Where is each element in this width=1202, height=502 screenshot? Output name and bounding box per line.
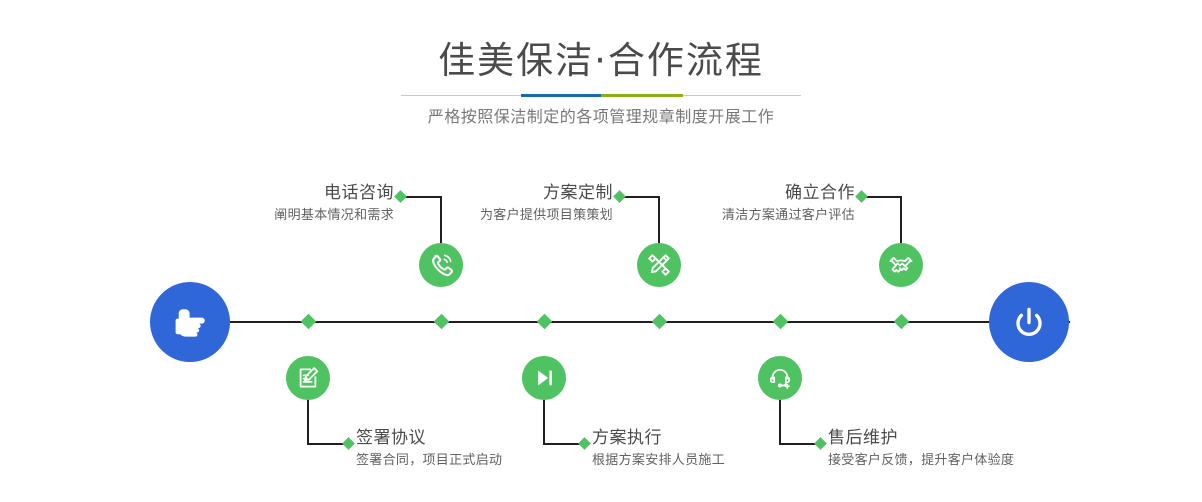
step-desc-4: 根据方案安排人员施工 xyxy=(592,450,852,472)
timeline-marker-5 xyxy=(894,314,910,330)
step-desc-2: 签署合同，项目正式启动 xyxy=(356,450,616,472)
step-title-6: 售后维护 xyxy=(828,427,1128,449)
step-desc-6: 接受客户反馈，提升客户体验度 xyxy=(828,450,1128,472)
timeline-marker-4 xyxy=(537,314,553,330)
headset-support-icon xyxy=(766,364,794,392)
handshake-icon xyxy=(887,251,915,279)
step-title-4: 方案执行 xyxy=(592,427,852,449)
step-node-4[interactable] xyxy=(522,356,566,400)
power-icon xyxy=(1007,300,1051,344)
connector-stem-2 xyxy=(307,400,309,444)
pointing-hand-icon xyxy=(168,300,212,344)
step-node-2[interactable] xyxy=(286,356,330,400)
step-label-1: 电话咨询 阐明基本情况和需求 xyxy=(150,182,394,227)
label-marker-5 xyxy=(855,190,868,203)
step-label-6: 售后维护 接受客户反馈，提升客户体验度 xyxy=(828,427,1128,472)
timeline-start-node[interactable] xyxy=(150,282,230,362)
step-desc-3: 为客户提供项目策策划 xyxy=(380,205,613,227)
process-timeline: 电话咨询 阐明基本情况和需求 方案定制 xyxy=(0,0,1202,502)
label-marker-3 xyxy=(613,190,626,203)
timeline-axis xyxy=(150,321,1070,323)
step-label-5: 确立合作 清洁方案通过客户评估 xyxy=(630,182,855,227)
document-sign-icon xyxy=(294,364,322,392)
label-marker-2 xyxy=(342,437,355,450)
timeline-marker-3 xyxy=(652,314,668,330)
cooperation-process-infographic: 佳美保洁·合作流程 严格按照保洁制定的各项管理规章制度开展工作 xyxy=(0,0,1202,502)
pencil-ruler-icon xyxy=(645,251,673,279)
step-title-3: 方案定制 xyxy=(380,182,613,204)
step-node-1[interactable] xyxy=(419,243,463,287)
timeline-marker-2 xyxy=(301,314,317,330)
connector-stem-4 xyxy=(543,400,545,444)
step-title-1: 电话咨询 xyxy=(150,182,394,204)
step-label-3: 方案定制 为客户提供项目策策划 xyxy=(380,182,613,227)
timeline-end-node[interactable] xyxy=(989,282,1069,362)
step-title-2: 签署协议 xyxy=(356,427,616,449)
step-title-5: 确立合作 xyxy=(630,182,855,204)
play-forward-icon xyxy=(530,364,558,392)
step-label-4: 方案执行 根据方案安排人员施工 xyxy=(592,427,852,472)
step-label-2: 签署协议 签署合同，项目正式启动 xyxy=(356,427,616,472)
step-desc-1: 阐明基本情况和需求 xyxy=(150,205,394,227)
timeline-marker-6 xyxy=(773,314,789,330)
timeline-marker-1 xyxy=(434,314,450,330)
step-node-6[interactable] xyxy=(758,356,802,400)
step-node-3[interactable] xyxy=(637,243,681,287)
phone-call-icon xyxy=(427,251,455,279)
step-node-5[interactable] xyxy=(879,243,923,287)
connector-stem-5 xyxy=(900,196,902,243)
connector-stem-6 xyxy=(779,400,781,444)
step-desc-5: 清洁方案通过客户评估 xyxy=(630,205,855,227)
